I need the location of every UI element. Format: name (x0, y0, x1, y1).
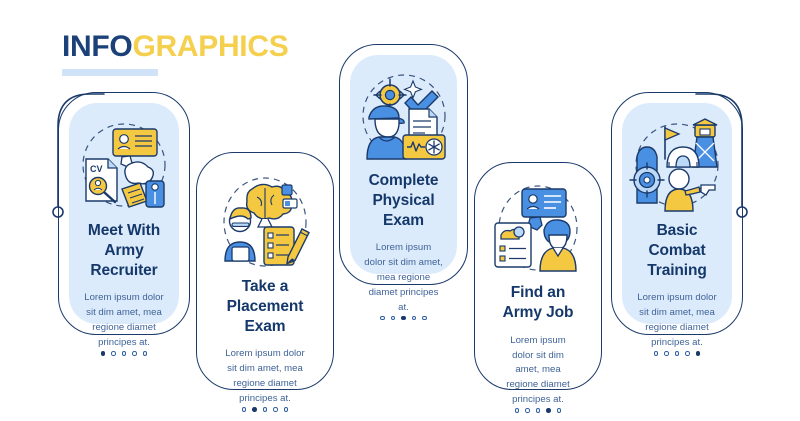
step-card-4-progress-dots[interactable] (515, 408, 562, 413)
recruiter-cv-badge-icon: CV (69, 117, 179, 215)
page-title: INFOGRAPHICS (62, 32, 288, 76)
step-card-1[interactable]: CV (58, 92, 190, 335)
step-card-4-description: Lorem ipsum dolor sit dim amet, mea regi… (485, 334, 591, 408)
progress-dot[interactable] (675, 351, 680, 356)
progress-dot[interactable] (111, 351, 116, 356)
progress-dot[interactable] (273, 407, 278, 412)
title-underline-bar (62, 69, 158, 76)
progress-dot[interactable] (284, 407, 289, 412)
step-card-2-title-line2: Placement Exam (227, 298, 304, 335)
step-card-3-title-line1: Complete (369, 172, 439, 189)
combat-training-target-tower-icon (622, 117, 732, 215)
progress-dot[interactable] (546, 408, 551, 413)
infographic-canvas: INFOGRAPHICS (0, 0, 800, 421)
step-card-3-description: Lorem ipsum dolor sit dim amet, mea regi… (350, 241, 457, 315)
page-title-secondary: GRAPHICS (132, 30, 288, 63)
progress-dot[interactable] (391, 316, 396, 321)
progress-dot[interactable] (696, 351, 701, 356)
step-card-1-description: Lorem ipsum dolor sit dim amet, mea regi… (69, 291, 179, 350)
step-card-5[interactable]: Basic Combat Training Lorem ipsum dolor … (611, 92, 743, 335)
progress-dot[interactable] (422, 316, 427, 321)
step-card-5-progress-dots[interactable] (654, 351, 701, 356)
step-card-5-description: Lorem ipsum dolor sit dim amet, mea regi… (622, 291, 732, 350)
step-card-1-title-line2: Army Recruiter (90, 242, 157, 279)
progress-dot[interactable] (132, 351, 137, 356)
progress-dot[interactable] (242, 407, 247, 412)
step-card-5-title: Basic Combat Training (622, 221, 732, 280)
step-card-3-panel: Complete Physical Exam Lorem ipsum dolor… (350, 55, 457, 274)
step-card-5-panel: Basic Combat Training Lorem ipsum dolor … (622, 103, 732, 324)
step-card-5-title-line1: Basic Combat (648, 222, 705, 259)
step-card-1-panel: CV (69, 103, 179, 324)
physical-exam-eye-medical-icon (350, 69, 457, 165)
placement-exam-brain-checklist-icon (207, 175, 323, 271)
find-job-profile-checklist-icon (485, 183, 591, 275)
step-card-1-title: Meet With Army Recruiter (69, 221, 179, 280)
progress-dot[interactable] (101, 351, 106, 356)
progress-dot[interactable] (401, 316, 406, 321)
step-card-2-title: Take a Placement Exam (207, 277, 323, 336)
step-card-2-title-line1: Take a (242, 278, 289, 295)
step-card-2[interactable]: Take a Placement Exam Lorem ipsum dolor … (196, 152, 334, 390)
step-card-4-title-line1: Find an (511, 284, 565, 301)
progress-dot[interactable] (143, 351, 148, 356)
svg-text:CV: CV (90, 164, 103, 174)
step-card-3[interactable]: Complete Physical Exam Lorem ipsum dolor… (339, 44, 468, 285)
step-card-3-title-line2: Physical Exam (372, 192, 434, 229)
progress-dot[interactable] (380, 316, 385, 321)
step-card-2-progress-dots[interactable] (242, 407, 289, 412)
progress-dot[interactable] (664, 351, 669, 356)
step-card-1-progress-dots[interactable] (101, 351, 148, 356)
step-card-3-progress-dots[interactable] (380, 316, 427, 321)
progress-dot[interactable] (412, 316, 417, 321)
step-card-2-panel: Take a Placement Exam Lorem ipsum dolor … (207, 163, 323, 379)
step-card-5-title-line2: Training (647, 262, 706, 279)
progress-dot[interactable] (557, 408, 562, 413)
step-card-1-title-line1: Meet With (88, 222, 160, 239)
progress-dot[interactable] (515, 408, 520, 413)
step-card-4-title-line2: Army Job (503, 304, 574, 321)
progress-dot[interactable] (252, 407, 257, 412)
step-card-4-title: Find an Army Job (497, 283, 580, 323)
progress-dot[interactable] (654, 351, 659, 356)
step-card-2-description: Lorem ipsum dolor sit dim amet, mea regi… (207, 347, 323, 406)
step-card-4-panel: Find an Army Job Lorem ipsum dolor sit d… (485, 173, 591, 379)
progress-dot[interactable] (536, 408, 541, 413)
step-card-4[interactable]: Find an Army Job Lorem ipsum dolor sit d… (474, 162, 602, 390)
progress-dot[interactable] (263, 407, 268, 412)
page-title-primary: INFO (62, 30, 132, 63)
progress-dot[interactable] (122, 351, 127, 356)
progress-dot[interactable] (685, 351, 690, 356)
progress-dot[interactable] (525, 408, 530, 413)
step-card-3-title: Complete Physical Exam (350, 171, 457, 230)
